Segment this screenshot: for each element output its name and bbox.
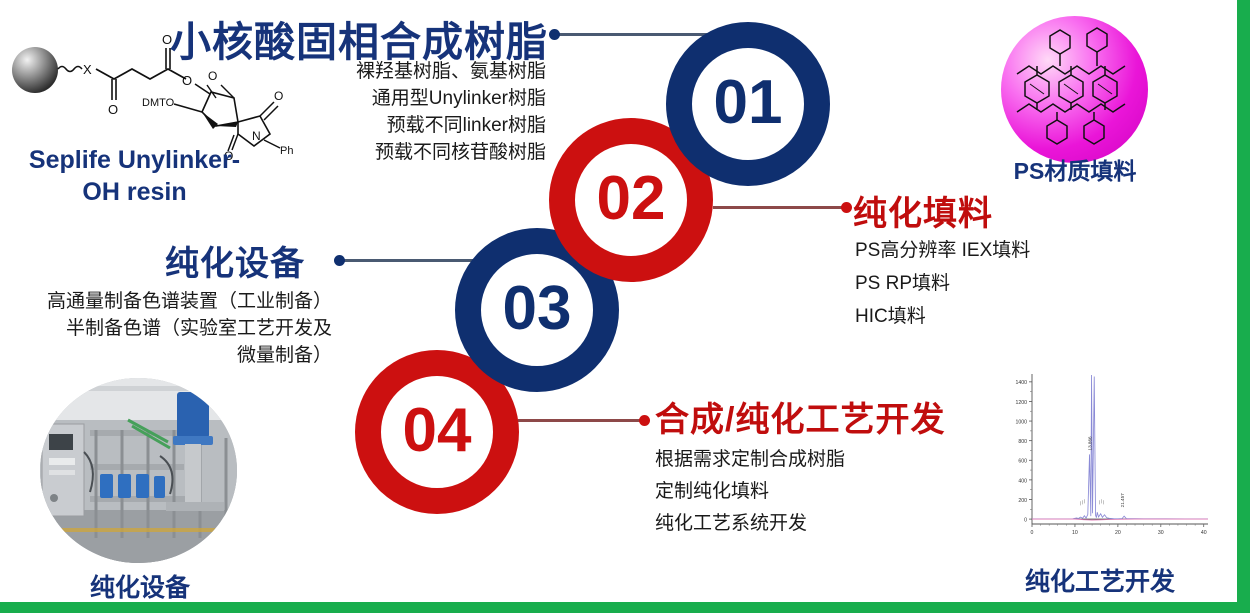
section-01-line-4: 预载不同核苷酸树脂 [310, 139, 546, 166]
equipment-photo-caption: 纯化设备 [20, 568, 260, 604]
step-number-01: 01 [714, 67, 783, 138]
section-04-title: 合成/纯化工艺开发 [655, 392, 945, 441]
step-ring-01[interactable]: 01 [666, 22, 830, 186]
section-02-title: 纯化填料 [853, 186, 993, 235]
seplife-resin-label: Seplife Unylinker- OH resin [2, 144, 267, 208]
section-03-bullets: 高通量制备色谱装置（工业制备） 半制备色谱（实验室工艺开发及 微量制备） [2, 288, 332, 369]
ps-polystyrene-structure-image [1001, 16, 1148, 163]
section-02-line-2: PS RP填料 [855, 267, 1030, 300]
svg-text:1200: 1200 [1015, 400, 1027, 406]
section-04-line-1: 根据需求定制合成树脂 [655, 444, 845, 476]
green-accent-bar-bottom [0, 602, 1250, 613]
step-number-02: 02 [597, 163, 666, 234]
connector-dot-04 [639, 415, 650, 426]
connector-dot-02 [841, 202, 852, 213]
svg-text:20: 20 [1115, 530, 1121, 536]
svg-text:800: 800 [1018, 439, 1027, 445]
ps-ball-caption: PS材质填料 [975, 152, 1175, 186]
section-02-line-1: PS高分辨率 IEX填料 [855, 234, 1030, 267]
purification-equipment-photo [40, 378, 237, 563]
svg-text:21.457: 21.457 [1120, 493, 1125, 507]
section-01-line-1: 裸羟基树脂、氨基树脂 [310, 58, 546, 85]
section-04-line-3: 纯化工艺系统开发 [655, 508, 845, 540]
section-02-bullets: PS高分辨率 IEX填料 PS RP填料 HIC填料 [855, 234, 1030, 333]
svg-text:O: O [208, 69, 217, 83]
section-04-bullets: 根据需求定制合成树脂 定制纯化填料 纯化工艺系统开发 [655, 444, 845, 540]
svg-text:13.866: 13.866 [1088, 436, 1093, 450]
section-04-line-2: 定制纯化填料 [655, 476, 845, 508]
svg-text:200: 200 [1018, 498, 1027, 504]
svg-text:10: 10 [1072, 530, 1078, 536]
svg-text:0: 0 [1031, 530, 1034, 536]
connector-line-01 [553, 33, 718, 36]
chromatogram-caption: 纯化工艺开发 [960, 562, 1240, 598]
svg-text:40: 40 [1201, 530, 1207, 536]
green-accent-bar-right [1237, 0, 1250, 613]
seplife-label-line2: OH resin [2, 176, 267, 208]
step-number-03: 03 [503, 273, 572, 344]
svg-text:Ph: Ph [280, 145, 293, 157]
section-03-title: 纯化设备 [165, 236, 305, 285]
section-03-line-2: 半制备色谱（实验室工艺开发及 [2, 315, 332, 342]
svg-text:DMTO: DMTO [142, 97, 175, 109]
connector-dot-01 [549, 29, 560, 40]
connector-line-02 [713, 206, 848, 209]
connector-dot-03 [334, 255, 345, 266]
svg-text:0: 0 [1024, 517, 1027, 523]
svg-text:400: 400 [1018, 478, 1027, 484]
svg-text:600: 600 [1018, 459, 1027, 465]
svg-text:O: O [108, 102, 118, 117]
svg-text:30: 30 [1158, 530, 1164, 536]
section-03-line-1: 高通量制备色谱装置（工业制备） [2, 288, 332, 315]
svg-text:X: X [83, 62, 92, 77]
svg-text:N: N [252, 129, 261, 143]
section-03-line-3: 微量制备） [2, 342, 332, 369]
svg-text:1400: 1400 [1015, 380, 1027, 386]
section-01-line-3: 预载不同linker树脂 [310, 112, 546, 139]
svg-text:1000: 1000 [1015, 419, 1027, 425]
connector-line-03 [338, 259, 490, 262]
seplife-label-line1: Seplife Unylinker- [2, 144, 267, 176]
section-02-line-3: HIC填料 [855, 300, 1030, 333]
svg-text:O: O [274, 89, 283, 103]
step-number-04: 04 [403, 395, 472, 466]
slide-canvas: X O O O O DMTO O N O [0, 0, 1250, 613]
connector-line-04 [518, 419, 646, 422]
svg-text:O: O [182, 73, 192, 88]
chromatogram-chart: 020040060080010001200140001020304013.866… [996, 366, 1214, 566]
section-01-line-2: 通用型Unylinker树脂 [310, 85, 546, 112]
section-01-bullets: 裸羟基树脂、氨基树脂 通用型Unylinker树脂 预载不同linker树脂 预… [310, 58, 546, 166]
svg-text:—: — [1082, 498, 1087, 503]
